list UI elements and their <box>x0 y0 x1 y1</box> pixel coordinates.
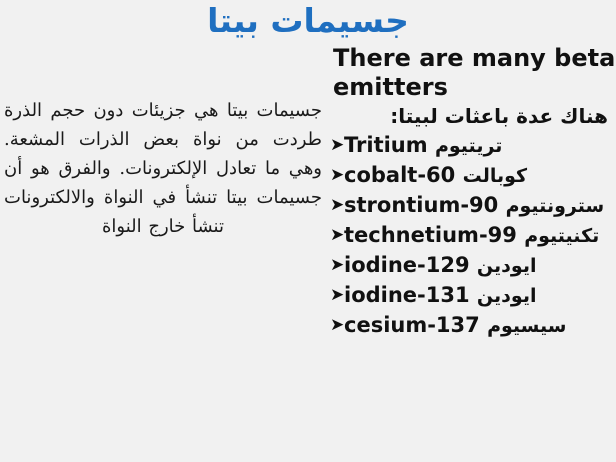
list-item[interactable]: ➤technetium-99 تكنيتيوم <box>330 221 616 251</box>
arrow-bullet-icon: ➤ <box>330 281 344 310</box>
emitters-heading: There are many beta emitters <box>333 44 616 102</box>
emitter-arabic-name: كوبالت <box>463 165 527 187</box>
list-item[interactable]: ➤iodine-131 ايودين <box>330 281 616 311</box>
emitter-arabic-name: تكنيتيوم <box>524 225 599 247</box>
emitter-latin-name: strontium-90 <box>344 193 498 217</box>
emitter-latin-name: iodine-129 <box>344 253 470 277</box>
emitter-latin-name: Tritium <box>344 133 428 157</box>
arrow-bullet-icon: ➤ <box>330 311 344 340</box>
list-item[interactable]: ➤Tritium تريتيوم <box>330 131 616 161</box>
emitters-panel: There are many beta emitters هناك عدة با… <box>330 44 616 341</box>
arrow-bullet-icon: ➤ <box>330 161 344 190</box>
emitters-list: ➤Tritium تريتيوم➤cobalt-60 كوبالت➤stront… <box>330 131 616 341</box>
list-item[interactable]: ➤strontium-90 سترونتيوم <box>330 191 616 221</box>
beta-particles-description: جسيمات بيتا هي جزيئات دون حجم الذرة طردت… <box>4 96 322 241</box>
emitter-arabic-name: سيسيوم <box>487 315 566 337</box>
list-item[interactable]: ➤iodine-129 ايودين <box>330 251 616 281</box>
emitter-latin-name: cesium-137 <box>344 313 480 337</box>
list-item[interactable]: ➤cesium-137 سيسيوم <box>330 311 616 341</box>
list-item[interactable]: ➤cobalt-60 كوبالت <box>330 161 616 191</box>
page-title: جسيمات بيتا <box>0 0 616 42</box>
emitter-latin-name: cobalt-60 <box>344 163 455 187</box>
arrow-bullet-icon: ➤ <box>330 221 344 250</box>
emitters-subheading: هناك عدة باعثات لبيتا: <box>308 102 608 131</box>
arrow-bullet-icon: ➤ <box>330 131 344 160</box>
emitter-arabic-name: سترونتيوم <box>506 195 605 217</box>
emitter-arabic-name: ايودين <box>477 285 537 307</box>
emitter-arabic-name: تريتيوم <box>435 135 502 157</box>
arrow-bullet-icon: ➤ <box>330 251 344 280</box>
slide-canvas: جسيمات بيتا جسيمات بيتا هي جزيئات دون حج… <box>0 0 616 462</box>
emitter-arabic-name: ايودين <box>477 255 537 277</box>
emitter-latin-name: iodine-131 <box>344 283 470 307</box>
arrow-bullet-icon: ➤ <box>330 191 344 220</box>
emitter-latin-name: technetium-99 <box>344 223 517 247</box>
